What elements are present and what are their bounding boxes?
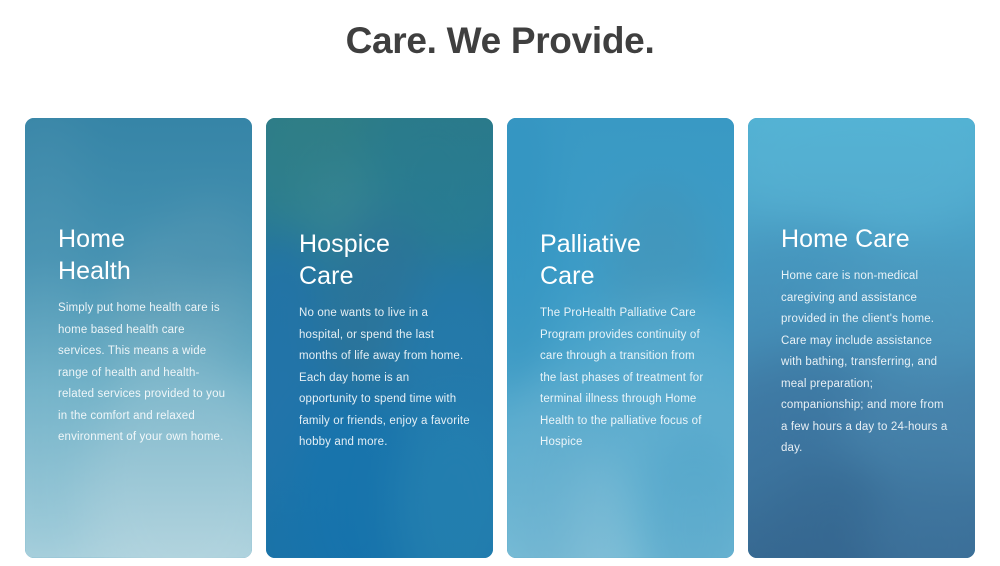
page-title: Care. We Provide. — [0, 18, 1000, 64]
card-title: Home Health — [58, 223, 230, 287]
service-card-home-health[interactable]: Home Health Simply put home health care … — [25, 118, 252, 558]
card-content-hospice-care: Hospice Care No one wants to live in a h… — [299, 118, 471, 558]
card-content-home-health: Home Health Simply put home health care … — [58, 118, 230, 558]
card-content-home-care: Home Care Home care is non-medical careg… — [781, 118, 953, 558]
care-services-page: Care. We Provide. Home Health Simply put… — [0, 0, 1000, 566]
service-card-home-care[interactable]: Home Care Home care is non-medical careg… — [748, 118, 975, 558]
card-title: Hospice Care — [299, 228, 471, 292]
service-card-grid: Home Health Simply put home health care … — [25, 118, 975, 558]
card-description: Home care is non-medical caregiving and … — [781, 266, 949, 460]
card-title: Home Care — [781, 223, 953, 255]
card-content-palliative-care: Palliative Care The ProHealth Palliative… — [540, 118, 712, 558]
card-description: No one wants to live in a hospital, or s… — [299, 303, 471, 454]
card-description: Simply put home health care is home base… — [58, 298, 230, 449]
service-card-hospice-care[interactable]: Hospice Care No one wants to live in a h… — [266, 118, 493, 558]
service-card-palliative-care[interactable]: Palliative Care The ProHealth Palliative… — [507, 118, 734, 558]
card-title: Palliative Care — [540, 228, 712, 292]
card-description: The ProHealth Palliative Care Program pr… — [540, 303, 712, 454]
